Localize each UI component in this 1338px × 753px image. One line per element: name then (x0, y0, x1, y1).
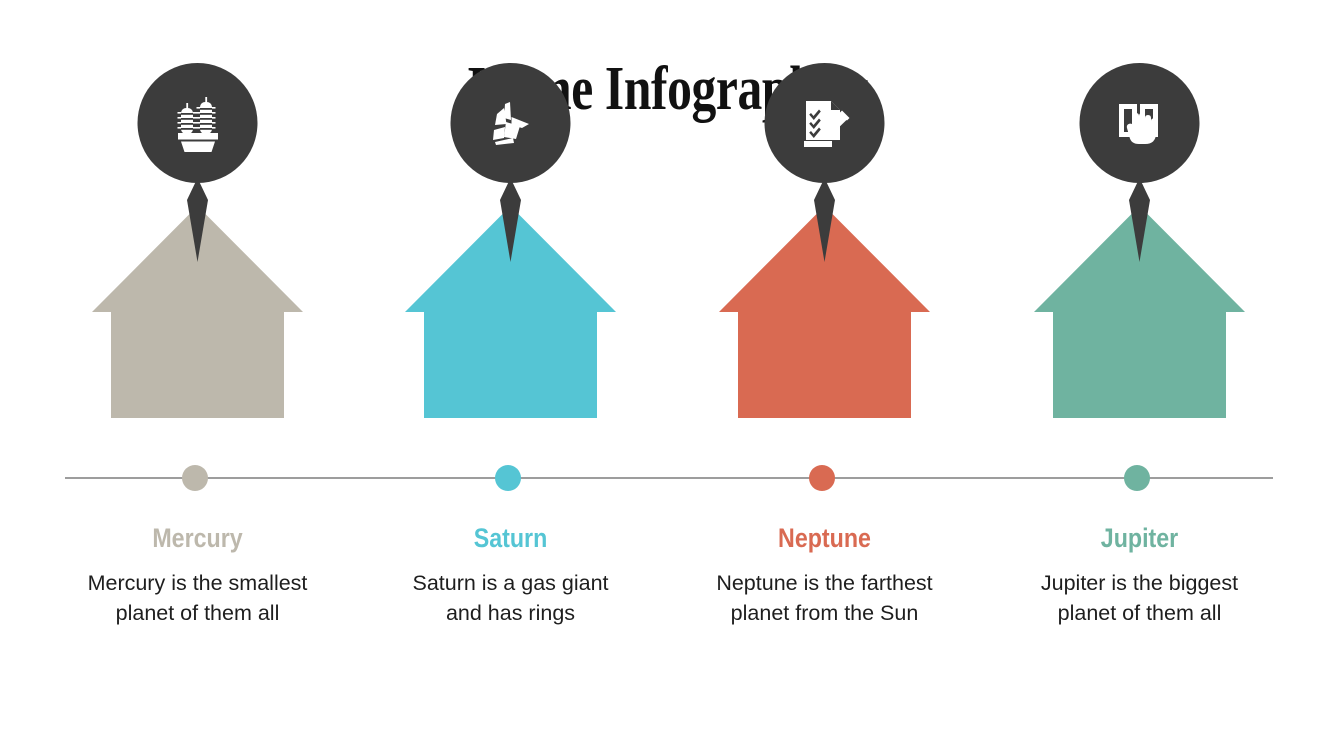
item-description: Saturn is a gas giant and has rings (358, 568, 663, 628)
infographic-item-neptune[interactable]: Neptune Neptune is the farthest planet f… (668, 0, 981, 753)
pin-marker-jupiter[interactable] (983, 0, 1296, 290)
item-description: Jupiter is the biggest planet of them al… (987, 568, 1292, 628)
infographic-columns: Mercury Mercury is the smallest planet o… (0, 0, 1338, 753)
description-line-2: planet of them all (116, 601, 280, 625)
timeline-dot-mercury[interactable] (182, 465, 208, 491)
pin-marker-neptune[interactable] (668, 0, 981, 290)
pin-marker-mercury[interactable] (41, 0, 354, 290)
item-label: Neptune (690, 523, 959, 554)
cactus-pot-icon (167, 92, 229, 154)
infographic-item-saturn[interactable]: Saturn Saturn is a gas giant and has rin… (354, 0, 667, 753)
description-line-1: Neptune is the farthest (716, 571, 932, 595)
description-line-2: planet of them all (1058, 601, 1222, 625)
checklist-pencil-icon (794, 92, 856, 154)
item-label: Saturn (376, 523, 645, 554)
timeline-dot-neptune[interactable] (809, 465, 835, 491)
infographic-item-jupiter[interactable]: Jupiter Jupiter is the biggest planet of… (983, 0, 1296, 753)
description-line-2: planet from the Sun (731, 601, 919, 625)
item-label: Jupiter (1005, 523, 1274, 554)
item-description: Mercury is the smallest planet of them a… (45, 568, 350, 628)
hand-grip-icon (1109, 92, 1171, 154)
timeline-dot-saturn[interactable] (495, 465, 521, 491)
description-line-1: Saturn is a gas giant (412, 571, 608, 595)
pin-marker-saturn[interactable] (354, 0, 667, 290)
item-label: Mercury (63, 523, 332, 554)
item-description: Neptune is the farthest planet from the … (672, 568, 977, 628)
description-line-2: and has rings (446, 601, 575, 625)
timeline-dot-jupiter[interactable] (1124, 465, 1150, 491)
description-line-1: Jupiter is the biggest (1041, 571, 1238, 595)
origami-bird-icon (480, 92, 542, 154)
infographic-item-mercury[interactable]: Mercury Mercury is the smallest planet o… (41, 0, 354, 753)
description-line-1: Mercury is the smallest (88, 571, 308, 595)
